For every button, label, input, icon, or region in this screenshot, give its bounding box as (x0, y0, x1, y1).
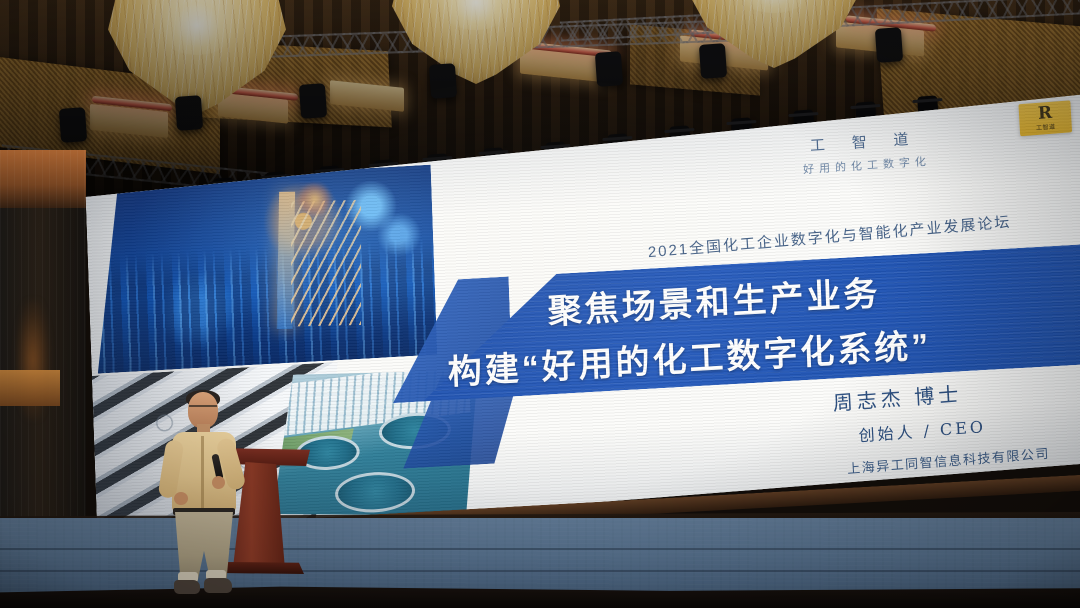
photo-petrochemical-plant-night (91, 165, 437, 374)
company-logo: R 工智道 (1018, 100, 1072, 136)
shirt-placket (201, 436, 204, 508)
stage-scene: 工 智 道 好用的化工数字化 R 工智道 2021全国化工企业数字化与智能化产业… (0, 0, 1080, 608)
presenter-head (188, 392, 218, 428)
presenter-left-hand (174, 492, 188, 505)
logo-text: 工智道 (1036, 121, 1056, 131)
presenter-right-shoe (204, 578, 232, 593)
left-orange-strip (0, 370, 60, 406)
presenter-left-shoe (174, 580, 200, 594)
glasses-icon (189, 405, 217, 410)
presenter-right-hand (212, 476, 225, 489)
logo-mark-icon: R (1038, 105, 1053, 121)
presenter (160, 392, 252, 604)
